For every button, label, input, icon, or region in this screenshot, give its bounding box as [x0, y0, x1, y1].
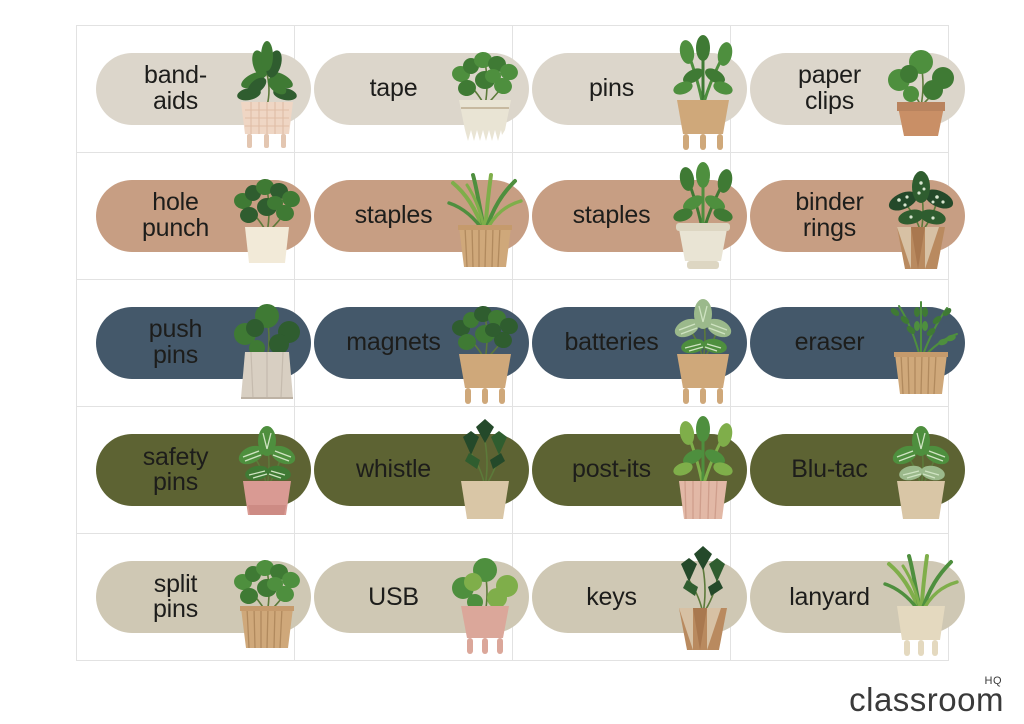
label-card[interactable]: keys [512, 533, 731, 661]
label-pill: paper clips [750, 53, 965, 125]
label-text: push pins [112, 317, 240, 368]
label-card-inner: tape [295, 26, 512, 152]
label-card-inner: staples [295, 153, 512, 279]
label-pill: batteries [532, 307, 747, 379]
label-card[interactable]: whistle [294, 406, 513, 534]
label-card-inner: hole punch [77, 153, 294, 279]
label-card[interactable]: push pins [76, 279, 295, 407]
logo-wordmark: classroom [849, 681, 1004, 718]
label-sheet: band- aids tape p [76, 25, 948, 661]
label-card[interactable]: post-its [512, 406, 731, 534]
label-card-inner: keys [513, 534, 730, 660]
label-card[interactable]: tape [294, 25, 513, 153]
label-card[interactable]: staples [512, 152, 731, 280]
label-card-inner: eraser [731, 280, 948, 406]
label-text: hole punch [112, 190, 240, 241]
label-text: keys [548, 585, 676, 611]
label-card[interactable]: USB [294, 533, 513, 661]
label-card-inner: pins [513, 26, 730, 152]
label-card[interactable]: binder rings [730, 152, 949, 280]
label-card-inner: batteries [513, 280, 730, 406]
label-pill: keys [532, 561, 747, 633]
label-pill: safety pins [96, 434, 311, 506]
label-card-inner: safety pins [77, 407, 294, 533]
label-card[interactable]: band- aids [76, 25, 295, 153]
label-card[interactable]: paper clips [730, 25, 949, 153]
label-pill: Blu-tac [750, 434, 965, 506]
label-card[interactable]: batteries [512, 279, 731, 407]
label-card[interactable]: split pins [76, 533, 295, 661]
label-card[interactable]: safety pins [76, 406, 295, 534]
label-card-inner: lanyard [731, 534, 948, 660]
label-pill: post-its [532, 434, 747, 506]
label-text: binder rings [766, 190, 894, 241]
label-card-inner: split pins [77, 534, 294, 660]
label-pill: split pins [96, 561, 311, 633]
label-pill: magnets [314, 307, 529, 379]
label-card[interactable]: lanyard [730, 533, 949, 661]
label-text: safety pins [112, 445, 240, 496]
label-text: batteries [548, 330, 676, 356]
label-card[interactable]: staples [294, 152, 513, 280]
label-card-inner: post-its [513, 407, 730, 533]
label-text: staples [548, 203, 676, 229]
label-text: split pins [112, 572, 240, 623]
label-text: Blu-tac [766, 457, 894, 483]
label-card-inner: binder rings [731, 153, 948, 279]
label-card-inner: magnets [295, 280, 512, 406]
label-pill: eraser [750, 307, 965, 379]
label-text: lanyard [766, 585, 894, 611]
label-card-inner: band- aids [77, 26, 294, 152]
label-pill: hole punch [96, 180, 311, 252]
label-pill: binder rings [750, 180, 965, 252]
label-text: band- aids [112, 63, 240, 114]
label-card[interactable]: eraser [730, 279, 949, 407]
label-pill: push pins [96, 307, 311, 379]
label-card-inner: paper clips [731, 26, 948, 152]
label-card-inner: push pins [77, 280, 294, 406]
label-text: whistle [330, 457, 458, 483]
label-grid: band- aids tape p [76, 25, 948, 661]
label-pill: band- aids [96, 53, 311, 125]
label-text: staples [330, 203, 458, 229]
label-card-inner: Blu-tac [731, 407, 948, 533]
label-text: magnets [330, 330, 458, 356]
label-card[interactable]: magnets [294, 279, 513, 407]
label-text: USB [330, 585, 458, 611]
label-card-inner: USB [295, 534, 512, 660]
label-pill: pins [532, 53, 747, 125]
label-pill: tape [314, 53, 529, 125]
label-text: eraser [766, 330, 894, 356]
label-pill: staples [314, 180, 529, 252]
brand-logo: HQ classroom [849, 675, 1004, 716]
label-pill: staples [532, 180, 747, 252]
label-card-inner: staples [513, 153, 730, 279]
label-text: paper clips [766, 63, 894, 114]
label-text: post-its [548, 457, 676, 483]
label-text: pins [548, 76, 676, 102]
label-pill: USB [314, 561, 529, 633]
label-pill: lanyard [750, 561, 965, 633]
label-card[interactable]: Blu-tac [730, 406, 949, 534]
label-text: tape [330, 76, 458, 102]
label-pill: whistle [314, 434, 529, 506]
label-card[interactable]: hole punch [76, 152, 295, 280]
label-card-inner: whistle [295, 407, 512, 533]
label-card[interactable]: pins [512, 25, 731, 153]
